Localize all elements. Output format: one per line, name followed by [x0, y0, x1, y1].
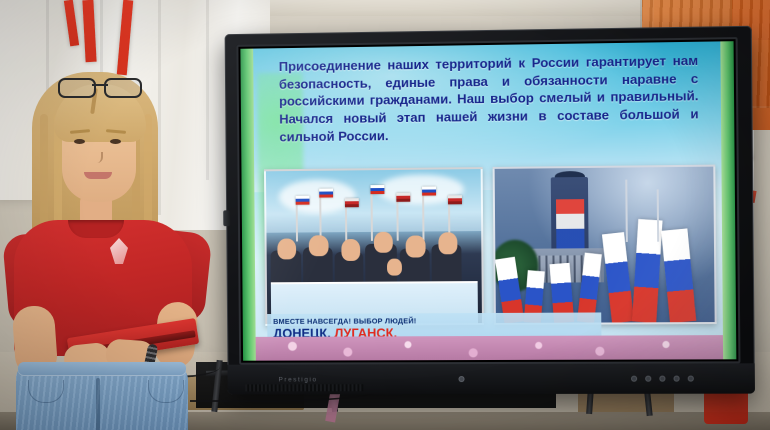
jeans-fly-seam [96, 378, 100, 430]
sunglasses-lens [104, 78, 142, 98]
mouth-smile [84, 172, 112, 179]
source-button-icon[interactable] [688, 376, 694, 382]
sunglasses-on-head [58, 78, 142, 96]
russian-flag [319, 189, 333, 198]
presenter [6, 44, 206, 430]
russian-flag [296, 195, 310, 204]
tower-banner [556, 199, 585, 249]
slide-edge-accent-right [720, 41, 736, 359]
volume-up-button-icon[interactable] [674, 376, 680, 382]
person-head [309, 235, 328, 257]
eye [74, 139, 85, 144]
russian-flag [422, 186, 436, 195]
person-head [406, 236, 426, 258]
interactive-display-panel[interactable]: Присоединение наших территорий к России … [225, 26, 755, 395]
panel-side-button[interactable] [223, 210, 230, 226]
menu-button-icon[interactable] [645, 376, 651, 382]
person-head [373, 231, 393, 253]
display-control-buttons[interactable] [623, 376, 694, 382]
curtain-fold [206, 0, 209, 180]
display-bezel-inner: Присоединение наших территорий к России … [236, 37, 740, 365]
speaker-grille [245, 384, 363, 391]
photograph: Присоединение наших территорий к России … [0, 0, 770, 430]
person-head [277, 238, 296, 260]
power-indicator-icon[interactable] [459, 376, 465, 382]
slide-photo-row [264, 165, 717, 326]
brand-logo: Prestigio [279, 376, 318, 383]
person-head [341, 239, 360, 261]
red-flag [397, 193, 411, 202]
caption-slogan: ВМЕСТЕ НАВСЕГДА! ВЫБОР ЛЮДЕЙ! [273, 315, 601, 325]
jeans-waistband [18, 362, 186, 376]
person-head [438, 232, 458, 254]
eye [110, 139, 121, 144]
slide-floral-border [256, 335, 724, 361]
power-button-icon[interactable] [631, 376, 637, 382]
volume-down-button-icon[interactable] [659, 376, 665, 382]
child-head [386, 259, 401, 276]
slide-body-text: Присоединение наших территорий к России … [279, 52, 699, 146]
display-screen[interactable]: Присоединение наших территорий к России … [240, 41, 736, 361]
presentation-slide: Присоединение наших территорий к России … [253, 41, 723, 360]
slide-image-city [493, 165, 717, 325]
red-flag [448, 195, 462, 204]
sunglasses-lens [58, 78, 96, 98]
russian-flag [371, 185, 385, 194]
slide-image-crowd [264, 167, 484, 326]
display-bottom-bezel: Prestigio [227, 363, 755, 394]
red-flag [345, 198, 359, 207]
sunglasses-bridge [92, 84, 108, 86]
flag-pole [656, 189, 658, 242]
